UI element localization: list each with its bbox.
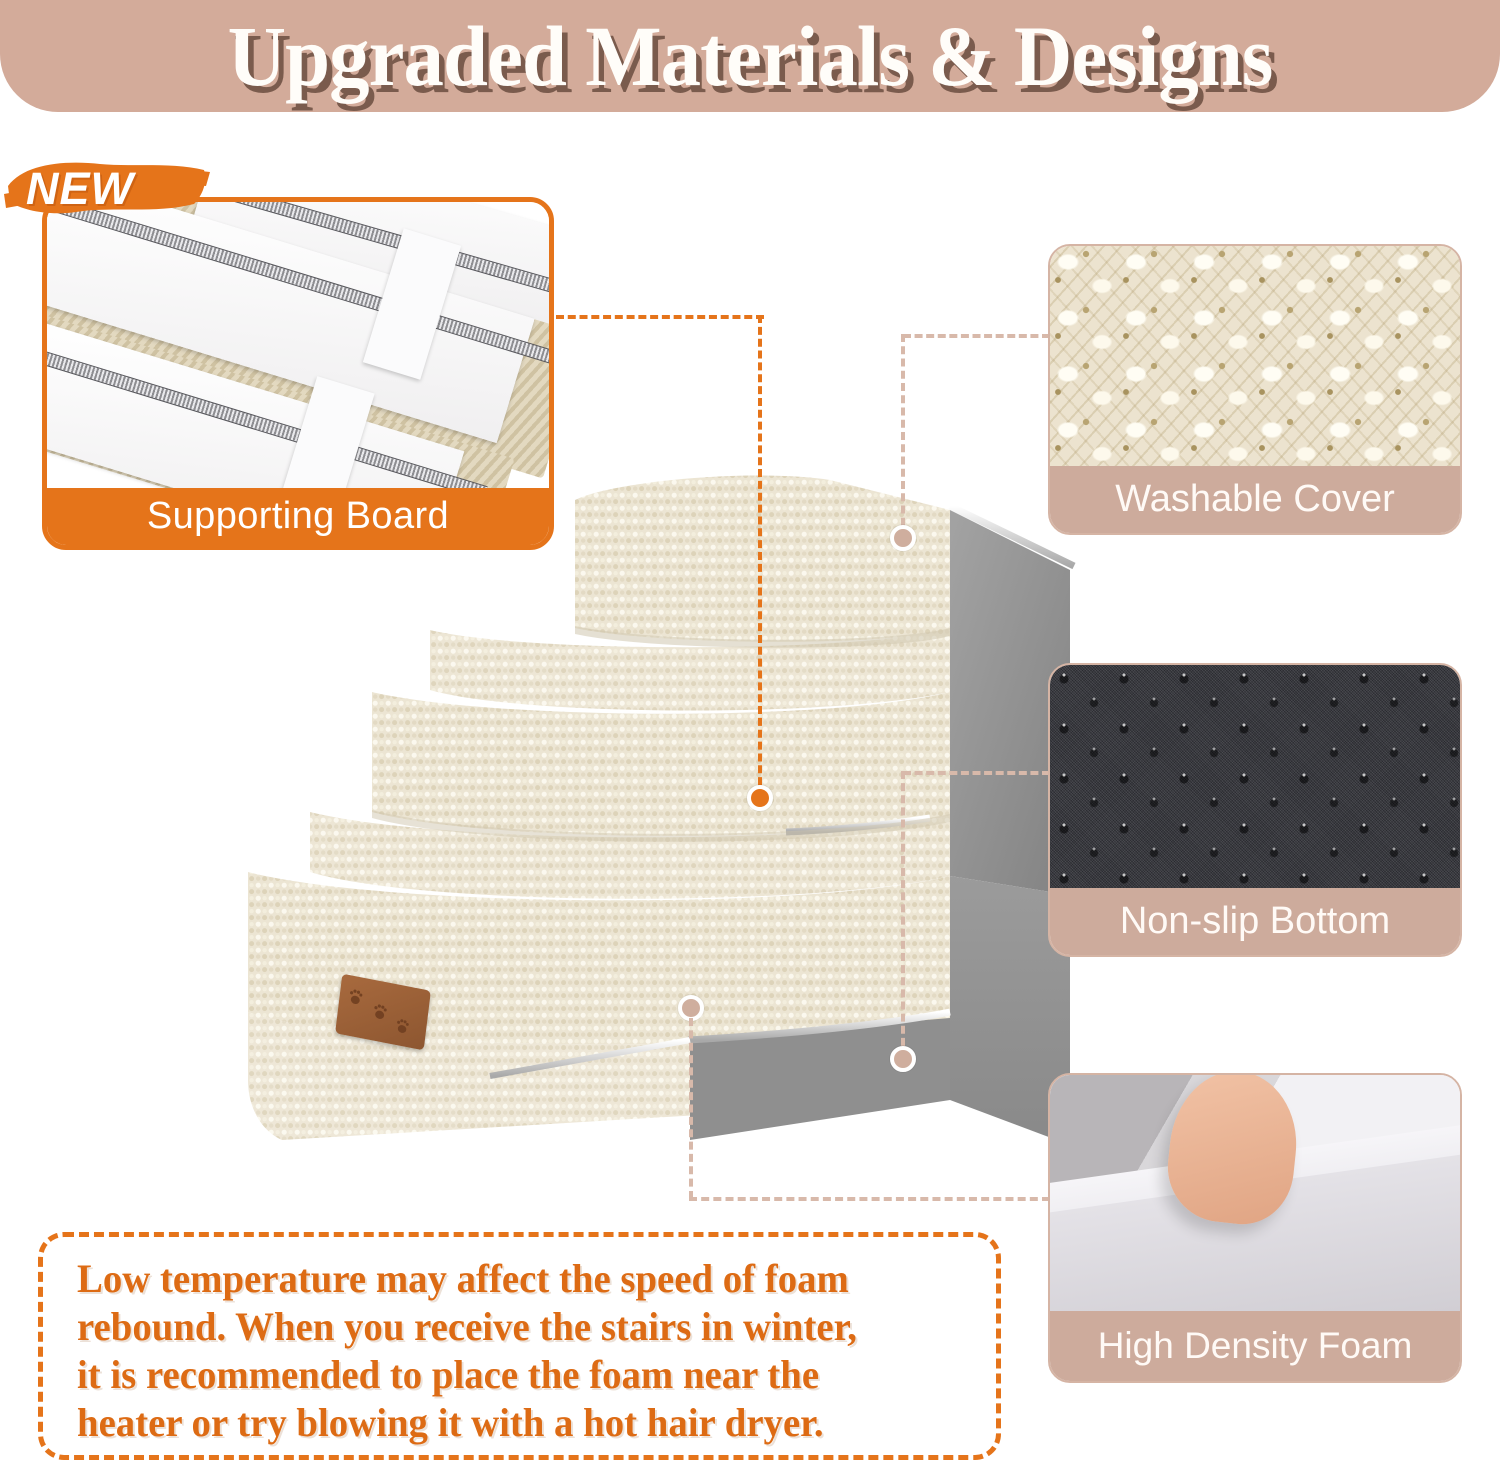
new-badge-label: NEW bbox=[26, 158, 191, 220]
care-note-line-3: it is recommended to place the foam near… bbox=[77, 1351, 935, 1399]
connector-non-slip-horizontal bbox=[903, 771, 1050, 775]
care-note-box: Low temperature may affect the speed of … bbox=[38, 1232, 1001, 1460]
page-header: Upgraded Materials & Designs bbox=[0, 0, 1500, 112]
care-note-line-1: Low temperature may affect the speed of … bbox=[77, 1255, 935, 1303]
connector-non-slip-vertical bbox=[901, 771, 905, 1058]
connector-supporting-board-horizontal bbox=[556, 315, 764, 319]
connector-supporting-board-vertical bbox=[758, 315, 762, 797]
non-slip-bottom-photo bbox=[1050, 665, 1460, 892]
high-density-foam-photo bbox=[1050, 1075, 1460, 1315]
care-note-line-2: rebound. When you receive the stairs in … bbox=[77, 1303, 935, 1351]
care-note-line-4: heater or try blowing it with a hot hair… bbox=[77, 1399, 935, 1447]
new-badge: NEW bbox=[4, 156, 210, 222]
pet-stairs-illustration bbox=[190, 440, 1080, 1240]
connector-foam-horizontal bbox=[689, 1197, 1050, 1201]
card-high-density-foam: High Density Foam bbox=[1048, 1073, 1462, 1383]
hotspot-non-slip-bottom bbox=[890, 1046, 916, 1072]
card-label-washable-cover: Washable Cover bbox=[1050, 466, 1460, 533]
card-label-non-slip-bottom: Non-slip Bottom bbox=[1050, 888, 1460, 955]
hotspot-washable-cover bbox=[890, 525, 916, 551]
hotspot-supporting-board bbox=[747, 785, 773, 811]
page-title: Upgraded Materials & Designs bbox=[45, 2, 1455, 110]
connector-foam-vertical bbox=[689, 1018, 693, 1199]
connector-washable-cover-horizontal bbox=[903, 334, 1050, 338]
product-image: Beige textured 3-step pet stairs with gr… bbox=[190, 440, 1080, 1240]
card-label-high-density-foam: High Density Foam bbox=[1050, 1311, 1460, 1381]
connector-washable-cover-vertical bbox=[901, 334, 905, 538]
washable-cover-photo bbox=[1050, 246, 1460, 470]
card-non-slip-bottom: Non-slip Bottom bbox=[1048, 663, 1462, 957]
card-washable-cover: Washable Cover bbox=[1048, 244, 1462, 535]
